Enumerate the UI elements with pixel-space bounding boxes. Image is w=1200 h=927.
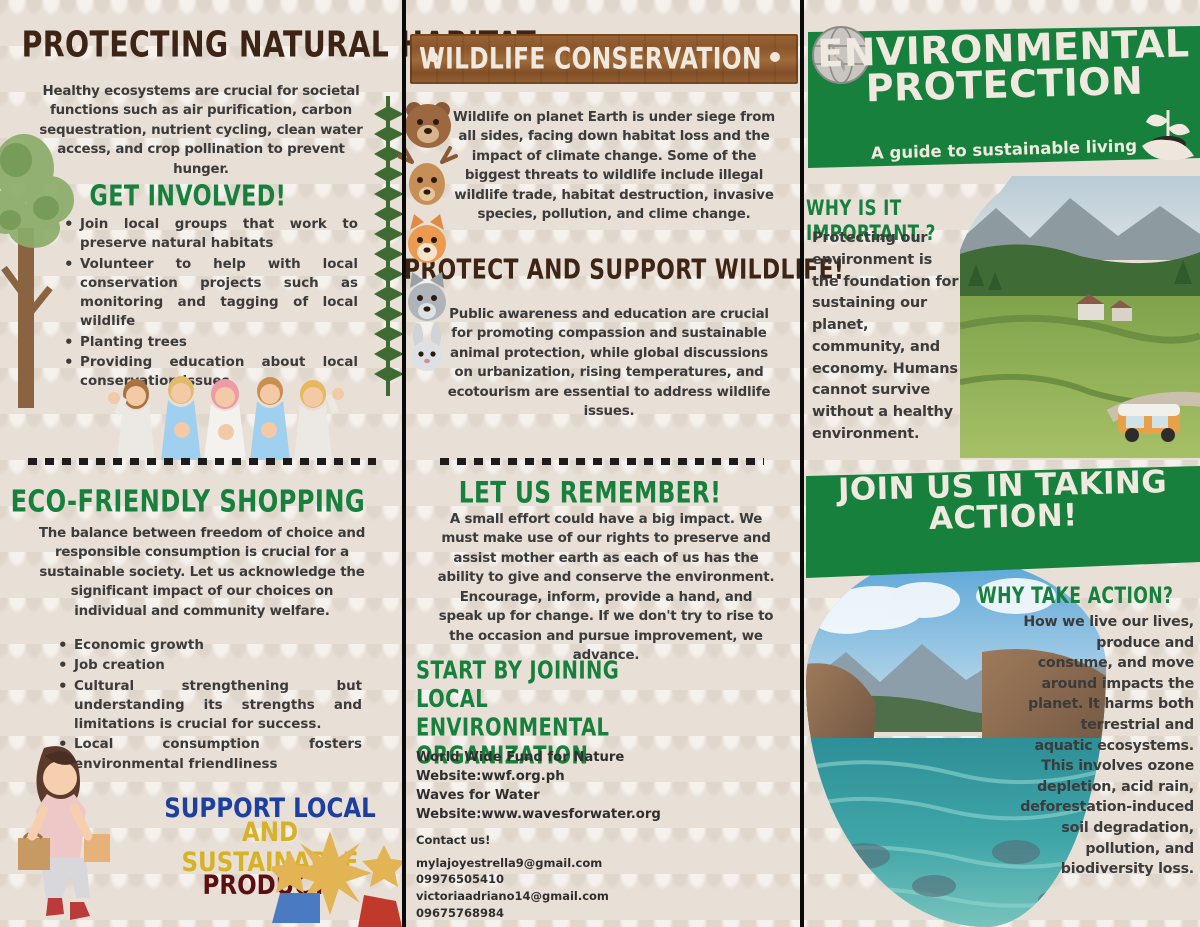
people-cheering-icon bbox=[100, 368, 350, 460]
wolf-icon bbox=[408, 272, 446, 321]
eco-shopping-heading: ECO-FRIENDLY SHOPPING bbox=[0, 484, 376, 519]
panel-middle: WILDLIFE CONSERVATION bbox=[404, 0, 804, 927]
let-us-remember-heading: LET US REMEMBER! bbox=[404, 475, 776, 509]
list-item: Cultural strengthening but understanding… bbox=[52, 677, 362, 735]
contact-phone[interactable]: 09976505410 bbox=[416, 871, 696, 888]
hand-holding-sprout-icon bbox=[1138, 100, 1200, 172]
contact-email[interactable]: mylajoyestrella9@gmail.com bbox=[416, 855, 696, 872]
bear-icon bbox=[405, 102, 451, 148]
list-item: Planting trees bbox=[58, 333, 358, 352]
animal-stack-icon bbox=[398, 96, 472, 376]
org-website[interactable]: Website:wwf.org.ph bbox=[416, 767, 716, 786]
tree-icon bbox=[0, 108, 80, 408]
divider-dotted bbox=[440, 458, 764, 465]
list-item: Volunteer to help with local conservatio… bbox=[58, 255, 358, 332]
fox-icon bbox=[408, 214, 446, 263]
list-item: Job creation bbox=[52, 656, 362, 675]
org-website[interactable]: Website:www.wavesforwater.org bbox=[416, 805, 716, 824]
panel-left: PROTECTING NATURAL HABITAT Healthy ecosy… bbox=[0, 0, 404, 927]
philippine-sun-icon bbox=[272, 809, 404, 927]
why-take-action-text: How we live our lives, produce and consu… bbox=[1020, 612, 1194, 880]
why-take-action-heading: WHY TAKE ACTION? bbox=[900, 584, 1173, 609]
woman-shopping-icon bbox=[0, 742, 130, 927]
org-name: Waves for Water bbox=[416, 786, 716, 805]
contact-email[interactable]: victoriaadriano14@gmail.com bbox=[416, 888, 696, 905]
panel1-intro-text: Healthy ecosystems are crucial for socie… bbox=[36, 82, 366, 179]
join-action-heading: JOIN US IN TAKING ACTION! bbox=[805, 466, 1200, 538]
rabbit-icon bbox=[411, 323, 443, 371]
panel2-title: WILDLIFE CONSERVATION bbox=[410, 41, 771, 75]
contact-phone[interactable]: 09675768984 bbox=[416, 905, 696, 922]
panel-fold-line bbox=[402, 0, 406, 927]
get-involved-list: Join local groups that work to preserve … bbox=[58, 215, 358, 393]
contact-block: Contact us! mylajoyestrella9@gmail.com 0… bbox=[416, 832, 696, 921]
protect-wildlife-text: Public awareness and education are cruci… bbox=[444, 305, 774, 422]
wildlife-intro-text: Wildlife on planet Earth is under siege … bbox=[444, 108, 784, 225]
panel-fold-line bbox=[800, 0, 804, 927]
deer-icon bbox=[398, 148, 456, 205]
org-name: World Wide Fund for Nature bbox=[416, 748, 716, 767]
list-item: Join local groups that work to preserve … bbox=[58, 215, 358, 254]
eco-shopping-text: The balance between freedom of choice an… bbox=[34, 524, 370, 621]
let-us-remember-text: A small effort could have a big impact. … bbox=[436, 510, 776, 666]
brochure-page: PROTECTING NATURAL HABITAT Healthy ecosy… bbox=[0, 0, 1200, 927]
why-important-text: Protecting our environment is the founda… bbox=[812, 228, 962, 446]
panel1-title: PROTECTING NATURAL HABITAT bbox=[22, 25, 385, 66]
contact-label: Contact us! bbox=[416, 832, 696, 849]
list-item: Economic growth bbox=[52, 636, 362, 655]
divider-dotted bbox=[28, 458, 376, 465]
brochure-main-title: ENVIRONMENTAL PROTECTION bbox=[807, 25, 1200, 109]
organizations-list: World Wide Fund for Nature Website:wwf.o… bbox=[416, 748, 716, 825]
